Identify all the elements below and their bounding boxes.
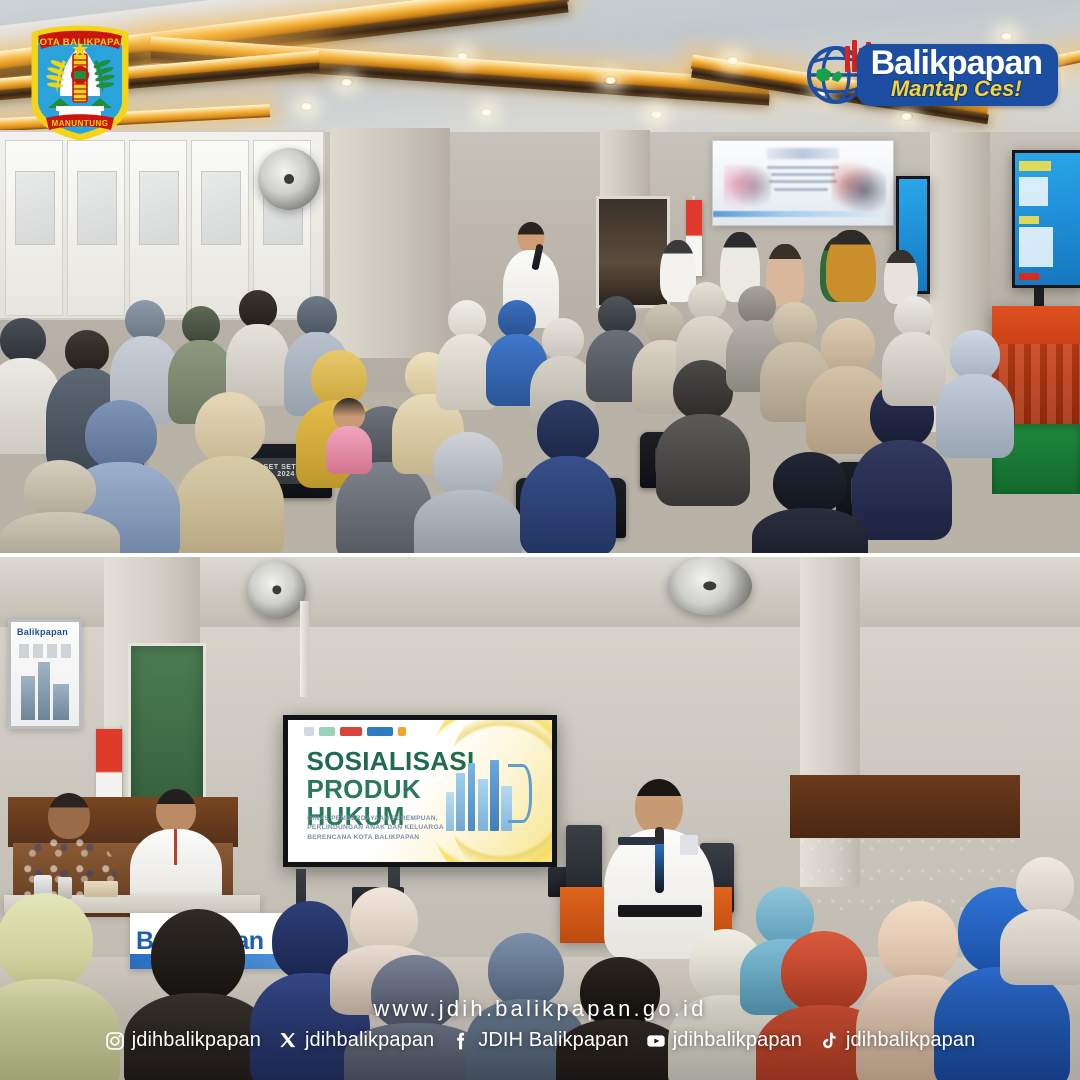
website-url[interactable]: www.jdih.balikpapan.go.id [0, 996, 1080, 1022]
slide-subtitle-line1: DINAS PEMBERDAYAAN PEREMPUAN, [307, 814, 444, 824]
emblem-top-text: KOTA BALIKPAPAN [32, 37, 127, 48]
social-facebook[interactable]: JDIH Balikpapan [451, 1029, 628, 1052]
slide-subtitle: DINAS PEMBERDAYAAN PEREMPUAN, PERLINDUNG… [307, 814, 444, 843]
downlight-icon [604, 76, 617, 85]
ceiling-fan [668, 557, 752, 615]
tiktok-handle: jdihbalikpapan [846, 1029, 975, 1052]
social-instagram[interactable]: jdihbalikpapan [105, 1029, 261, 1052]
instagram-handle: jdihbalikpapan [132, 1029, 261, 1052]
instagram-icon [105, 1031, 125, 1051]
social-tiktok[interactable]: jdihbalikpapan [819, 1029, 975, 1052]
youtube-icon [646, 1031, 666, 1051]
doorway [596, 196, 670, 308]
audience-member [226, 290, 290, 400]
wall-fan [248, 561, 306, 619]
brand-pill: Balikpapan Mantap Ces! [857, 44, 1058, 106]
balikpapan-brand-logo: Balikpapan Mantap Ces! [805, 36, 1058, 114]
audience-child [326, 398, 372, 470]
social-links: jdihbalikpapan jdihbalikpapan JDIH Balik… [0, 1029, 1080, 1052]
audience-member [520, 400, 616, 550]
photo-divider [0, 553, 1080, 557]
audience-member [752, 452, 868, 555]
downlight-icon [650, 110, 663, 119]
audience-member [936, 330, 1014, 452]
lanyard [174, 829, 177, 865]
audience-member [0, 460, 120, 555]
poster-brand-text: Balikpapan [17, 627, 68, 637]
downlight-icon [726, 56, 739, 65]
social-youtube[interactable]: jdihbalikpapan [646, 1029, 802, 1052]
event-backdrop-banner [712, 140, 894, 226]
downlight-icon [480, 108, 493, 117]
youtube-handle: jdihbalikpapan [673, 1029, 802, 1052]
poster-root: DPRD ASET SETWAN 2024 ASET SETWAN 2024 A… [0, 0, 1080, 1080]
emblem-bottom-text: MANUNTUNG [52, 119, 109, 128]
brand-name: Balikpapan [871, 47, 1042, 80]
x-twitter-icon [278, 1031, 298, 1051]
wall-poster-frame: Balikpapan [8, 619, 82, 729]
tiktok-icon [819, 1031, 839, 1051]
downlight-icon [456, 52, 469, 61]
slide-subtitle-line3: BERENCANA KOTA BALIKPAPAN [307, 833, 444, 843]
belt [618, 905, 702, 917]
facebook-handle: JDIH Balikpapan [478, 1029, 628, 1052]
microphone-icon [655, 827, 664, 893]
uniform-emblem-patch [680, 835, 698, 855]
audience-member [176, 392, 284, 552]
social-x[interactable]: jdihbalikpapan [278, 1029, 434, 1052]
monitor-screen [1012, 150, 1080, 288]
slide-logo-row [304, 727, 406, 736]
slide-subtitle-line2: PERLINDUNGAN ANAK DAN KELUARGA [307, 823, 444, 833]
kota-balikpapan-emblem: KOTA BALIKPAPAN MANUNTUNG [26, 24, 134, 142]
uniform-nametag [618, 837, 660, 845]
x-handle: jdihbalikpapan [305, 1029, 434, 1052]
audience-member [414, 432, 522, 555]
brand-tagline: Mantap Ces! [871, 78, 1042, 100]
projector-screen: SOSIALISASI PRODUK HUKUM DINAS PEMBERDAY… [283, 715, 557, 867]
downlight-icon [300, 102, 313, 111]
panelist [826, 230, 876, 302]
facebook-icon [451, 1031, 471, 1051]
presentation-slide: SOSIALISASI PRODUK HUKUM DINAS PEMBERDAY… [288, 720, 552, 862]
fan-mount [300, 601, 309, 697]
wall-fan [258, 148, 320, 210]
downlight-icon [340, 78, 353, 87]
slide-illustration [444, 757, 534, 831]
